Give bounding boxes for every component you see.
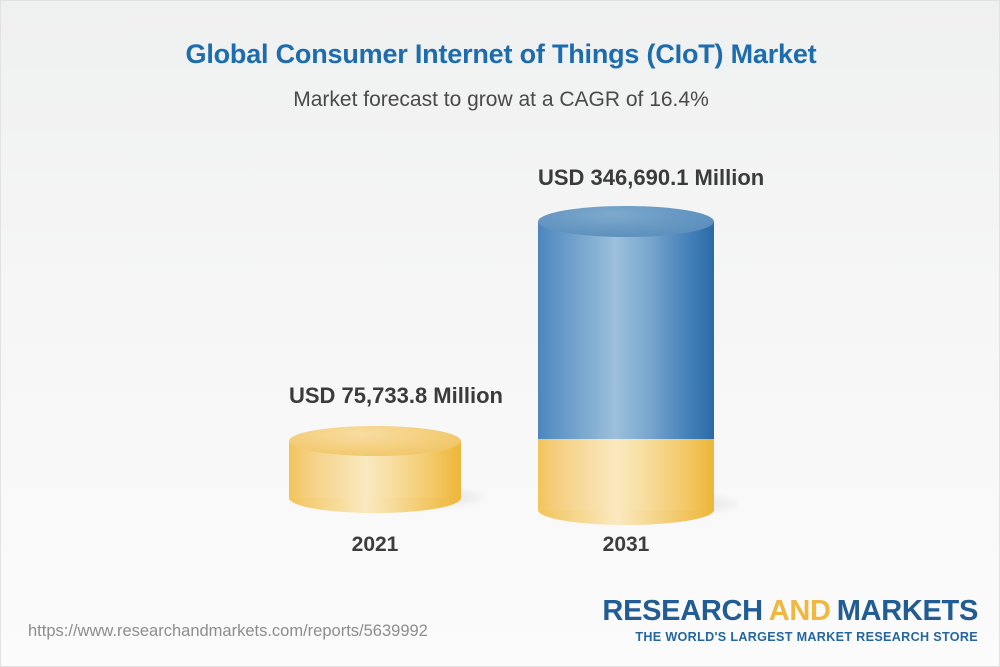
cylinder-top-ellipse-2021 (289, 426, 461, 456)
brand-word-research: RESEARCH (602, 595, 762, 627)
cylinder-2021 (289, 426, 461, 532)
brand-logo-wordmark: RESEARCHANDMARKETS (602, 597, 978, 627)
cylinder-2031 (538, 206, 714, 536)
brand-logo[interactable]: RESEARCHANDMARKETS THE WORLD'S LARGEST M… (602, 597, 978, 644)
bar-value-label-2031: USD 346,690.1 Million (538, 165, 714, 191)
plot-area: USD 75,733.8 Million 2021 USD 346,690.1 … (1, 1, 1000, 601)
cylinder-top-ellipse-2031 (538, 206, 714, 237)
bar-category-label-2021: 2021 (289, 533, 461, 557)
cylinder-segment-blue-2031 (538, 221, 714, 439)
brand-tagline: THE WORLD'S LARGEST MARKET RESEARCH STOR… (602, 630, 978, 644)
bar-value-label-2021: USD 75,733.8 Million (289, 383, 461, 409)
cylinder-segment-gold-body-2031 (538, 439, 714, 510)
bar-2021[interactable]: USD 75,733.8 Million 2021 (289, 151, 461, 571)
brand-word-and: AND (769, 595, 831, 627)
chart-canvas: Global Consumer Internet of Things (CIoT… (0, 0, 1000, 667)
bar-2031[interactable]: USD 346,690.1 Million 2031 (538, 151, 714, 571)
brand-word-markets: MARKETS (837, 595, 978, 627)
source-url[interactable]: https://www.researchandmarkets.com/repor… (28, 622, 428, 641)
bar-category-label-2031: 2031 (538, 533, 714, 557)
